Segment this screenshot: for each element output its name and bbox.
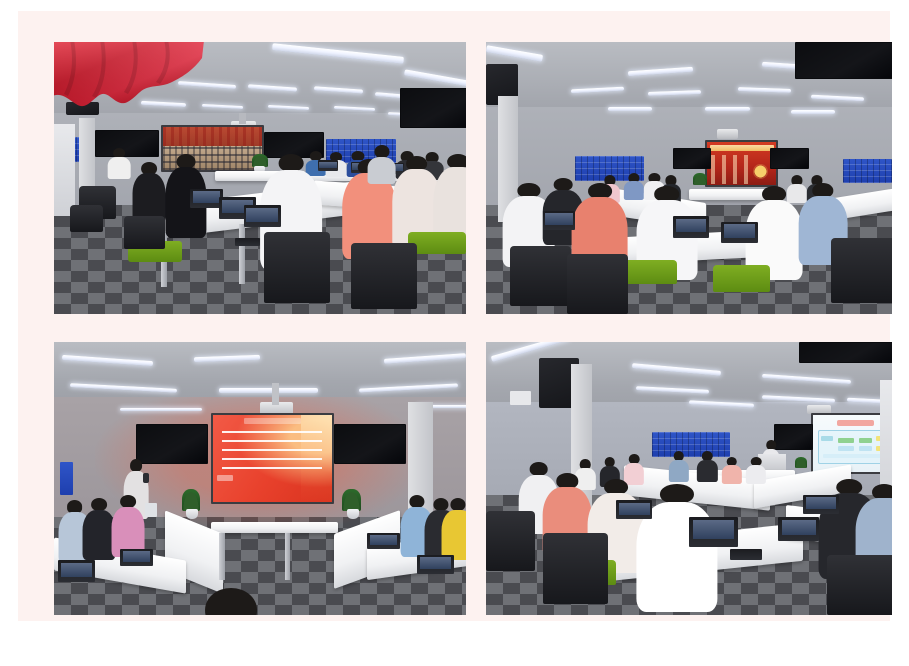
- photo-2[interactable]: [486, 42, 892, 314]
- photo-4[interactable]: [486, 342, 892, 615]
- page-root: [0, 0, 909, 666]
- acoustic-panel: [652, 432, 729, 457]
- room-door: [54, 124, 75, 216]
- wall-tv-side-b: [770, 148, 809, 169]
- wall-tv-side-a: [673, 148, 712, 169]
- photo-2-scene: [486, 42, 892, 314]
- photo-1-scene: [54, 42, 466, 314]
- wall-tv-left: [400, 88, 466, 128]
- photo-4-scene: [486, 342, 892, 615]
- acoustic-panel-left: [60, 462, 72, 495]
- wall-tv-overhead: [795, 42, 892, 79]
- projection-screen-3: [211, 413, 334, 504]
- photo-3-scene: [54, 342, 466, 615]
- wall-tv-left: [136, 424, 208, 464]
- projector-icon: [717, 129, 737, 139]
- microphone-icon: [143, 473, 150, 483]
- projection-screen-2: [705, 140, 778, 188]
- ceiling-speaker-icon: [66, 102, 99, 116]
- wall-tv-right: [334, 424, 406, 464]
- acoustic-panel-right: [843, 159, 892, 183]
- article-panel: [18, 11, 890, 621]
- phone-icon: [145, 503, 157, 517]
- photo-1[interactable]: [54, 42, 466, 314]
- wall-speaker-icon: [510, 391, 530, 405]
- photo-grid: [54, 42, 892, 615]
- photo-3[interactable]: [54, 342, 466, 615]
- wall-tv-overhead: [799, 342, 892, 363]
